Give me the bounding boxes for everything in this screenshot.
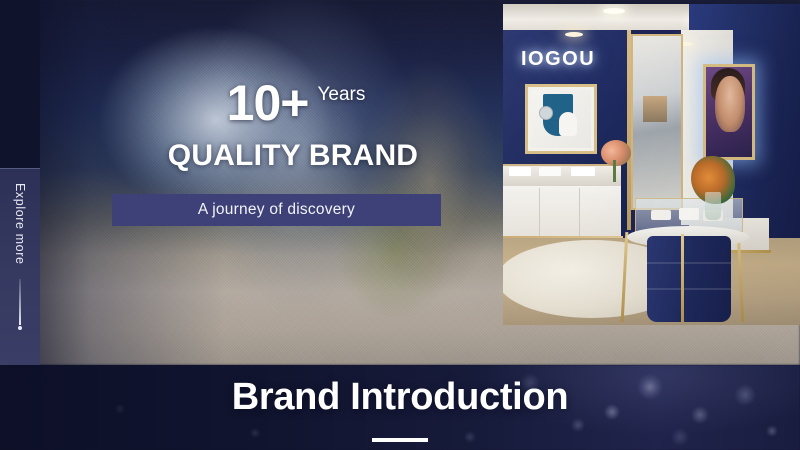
title-underline-rule bbox=[372, 438, 428, 442]
photo-flower-arrangement-1 bbox=[601, 140, 631, 166]
jewelry-showroom-photo: IOGOU bbox=[503, 4, 800, 325]
photo-vitrine-item-2 bbox=[679, 208, 699, 220]
photo-poster-model-face bbox=[715, 76, 745, 132]
photo-pedestal-groove-2 bbox=[647, 288, 731, 290]
photo-pedestal-groove-1 bbox=[647, 262, 731, 264]
photo-glass-vase bbox=[705, 192, 721, 220]
photo-spotlight-1-icon bbox=[565, 32, 583, 37]
down-arrow-tip-icon bbox=[18, 326, 22, 330]
photo-mirror bbox=[631, 34, 683, 210]
tagline-text: A journey of discovery bbox=[198, 201, 355, 219]
photo-jewelry-tray-1 bbox=[509, 167, 531, 176]
photo-flower-stem-1 bbox=[613, 160, 616, 182]
hero-copy-block: 10+ Years QUALITY BRAND A journey of dis… bbox=[128, 78, 458, 238]
photo-jewelry-tray-3 bbox=[571, 167, 595, 176]
explore-more-label: Explore more bbox=[13, 183, 27, 265]
photo-necklace-bust bbox=[559, 112, 577, 136]
photo-jewelry-tray-2 bbox=[539, 167, 561, 176]
banner-stage: Explore more 10+ Years QUALITY BRAND A j… bbox=[0, 0, 800, 450]
stat-unit-label: Years bbox=[317, 84, 365, 106]
hero-headline: QUALITY BRAND bbox=[128, 140, 458, 172]
stat-line: 10+ Years bbox=[128, 78, 458, 140]
photo-cabinet-seam-2 bbox=[579, 188, 580, 236]
photo-neon-sign: IOGOU bbox=[521, 48, 595, 71]
photo-table-leg-center bbox=[681, 234, 684, 322]
explore-more-rail[interactable]: Explore more bbox=[0, 168, 40, 365]
photo-mirror-reflection bbox=[643, 96, 667, 122]
photo-cabinet-seam-1 bbox=[539, 188, 540, 236]
photo-table-pedestal bbox=[647, 236, 731, 322]
tagline-banner: A journey of discovery bbox=[112, 194, 441, 226]
photo-vitrine-item-1 bbox=[651, 210, 671, 220]
photo-display-disc bbox=[539, 106, 553, 120]
page-title: Brand Introduction bbox=[0, 377, 800, 419]
footer-section: Brand Introduction bbox=[0, 365, 800, 450]
stat-number: 10+ bbox=[227, 78, 309, 128]
hero-section: Explore more 10+ Years QUALITY BRAND A j… bbox=[0, 0, 800, 365]
down-arrow-icon bbox=[19, 279, 21, 325]
photo-counter-cabinet bbox=[503, 186, 621, 238]
photo-ceiling-light-icon bbox=[603, 8, 625, 14]
